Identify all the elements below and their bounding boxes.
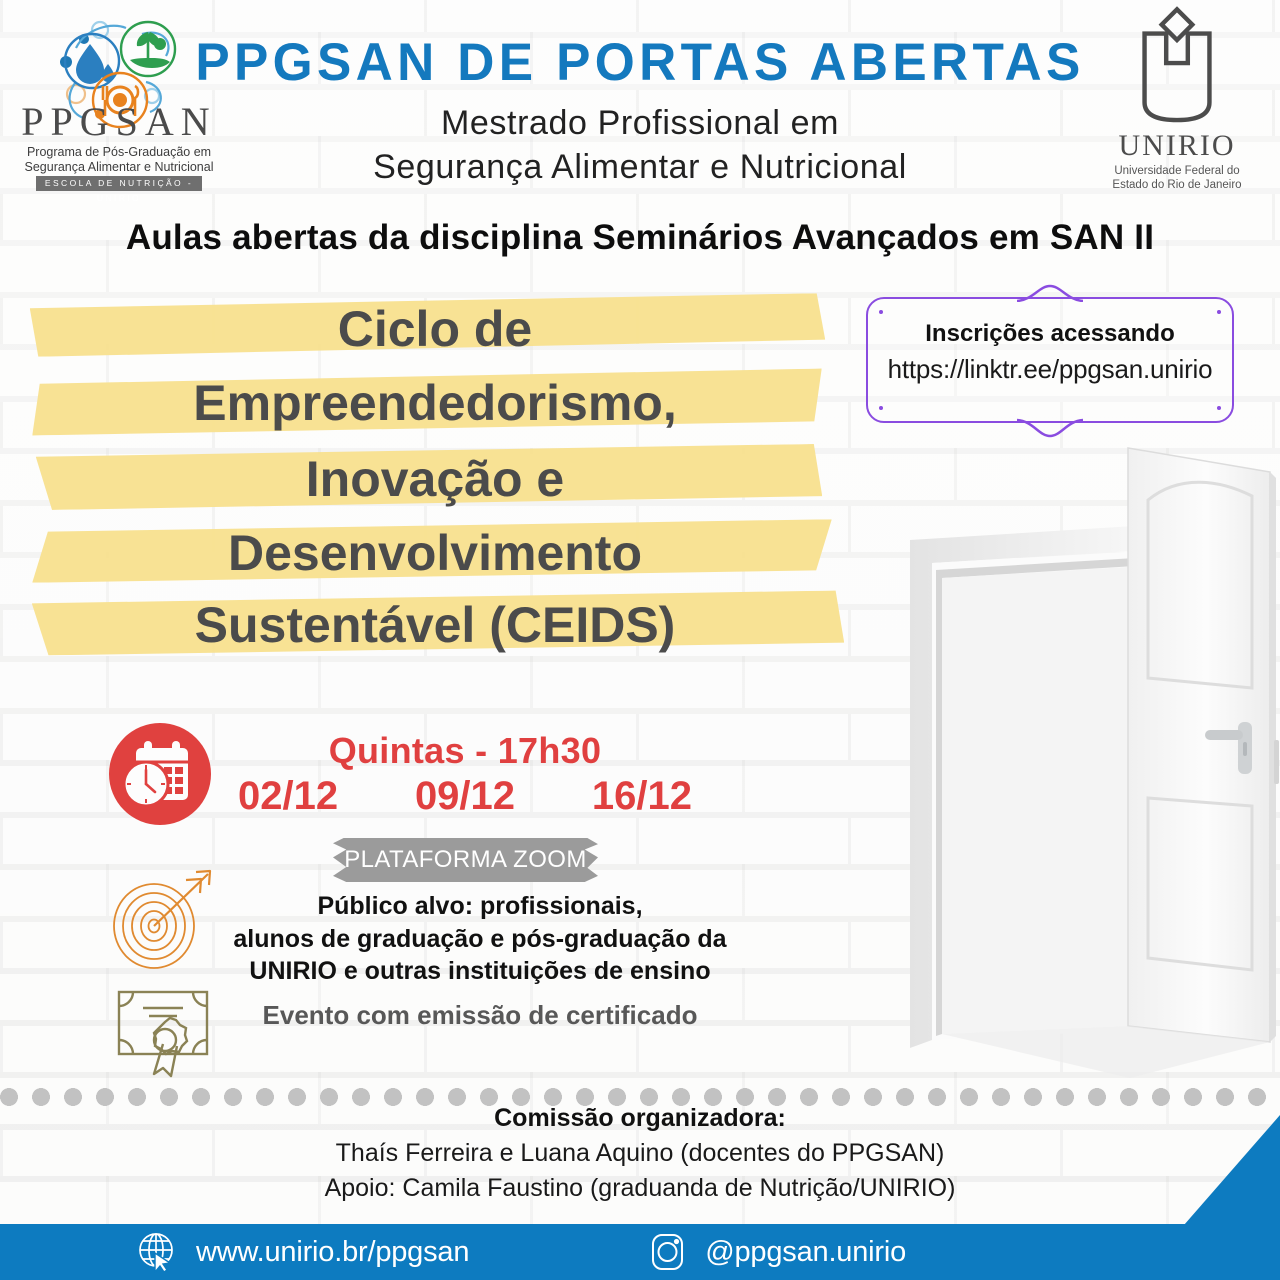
event-title-line-4: Desenvolvimento (10, 528, 860, 578)
schedule-date: 09/12 (415, 774, 515, 819)
committee-block: Comissão organizadora: Thaís Ferreira e … (0, 1104, 1280, 1203)
platform-ribbon: PLATAFORMA ZOOM (333, 838, 598, 882)
callout-corner-dot (1217, 406, 1221, 410)
globe-cursor-icon (138, 1231, 178, 1273)
registration-callout[interactable]: Inscrições acessando https://linktr.ee/p… (866, 297, 1234, 423)
poster-canvas: PPGSAN Programa de Pós-Graduação em Segu… (0, 0, 1280, 1280)
discipline-heading: Aulas abertas da disciplina Seminários A… (0, 218, 1280, 258)
open-door-illustration (880, 430, 1280, 1090)
instagram-link[interactable]: @ppgsan.unirio (647, 1231, 906, 1273)
event-title-line-2: Empreendedorismo, (10, 378, 860, 428)
callout-corner-dot (1217, 310, 1221, 314)
certificate-icon (110, 984, 220, 1080)
platform-label: PLATAFORMA ZOOM (333, 838, 598, 882)
callout-corner-dot (879, 310, 883, 314)
footer-bar: www.unirio.br/ppgsan @ppgsan.unirio (0, 1224, 1280, 1280)
instagram-icon (647, 1231, 687, 1273)
event-title-line-5: Sustentável (CEIDS) (10, 600, 860, 650)
callout-corner-dot (879, 406, 883, 410)
certificate-text: Evento com emissão de certificado (200, 1000, 760, 1031)
schedule-dates-row: 02/12 09/12 16/12 (230, 774, 700, 819)
instagram-label: @ppgsan.unirio (705, 1236, 906, 1269)
page-title: PPGSAN DE PORTAS ABERTAS (19, 32, 1261, 93)
website-label: www.unirio.br/ppgsan (196, 1236, 469, 1269)
committee-line-2: Apoio: Camila Faustino (graduanda de Nut… (0, 1174, 1280, 1203)
calendar-clock-icon (108, 722, 212, 826)
audience-text: Público alvo: profissionais, alunos de g… (200, 890, 760, 988)
committee-title: Comissão organizadora: (0, 1104, 1280, 1133)
event-title-line-1: Ciclo de (10, 304, 860, 354)
schedule-block: Quintas - 17h30 02/12 09/12 16/12 (230, 730, 700, 819)
schedule-date: 16/12 (592, 774, 692, 819)
audience-line-3: UNIRIO e outras instituições de ensino (200, 955, 760, 988)
event-title-line-3: Inovação e (10, 454, 860, 504)
callout-title: Inscrições acessando (868, 320, 1232, 348)
schedule-date: 02/12 (238, 774, 338, 819)
event-title-block: Ciclo de Empreendedorismo, Inovação e De… (10, 290, 860, 660)
committee-line-1: Thaís Ferreira e Luana Aquino (docentes … (0, 1139, 1280, 1168)
website-link[interactable]: www.unirio.br/ppgsan (138, 1231, 469, 1273)
schedule-title: Quintas - 17h30 (230, 730, 700, 772)
callout-tail-top-icon (1017, 284, 1083, 302)
program-subtitle-line1: Mestrado Profissional em (0, 104, 1280, 143)
registration-url[interactable]: https://linktr.ee/ppgsan.unirio (868, 354, 1232, 385)
audience-line-1: Público alvo: profissionais, (200, 890, 760, 923)
program-subtitle-line2: Segurança Alimentar e Nutricional (0, 148, 1280, 187)
audience-line-2: alunos de graduação e pós-graduação da (200, 923, 760, 956)
